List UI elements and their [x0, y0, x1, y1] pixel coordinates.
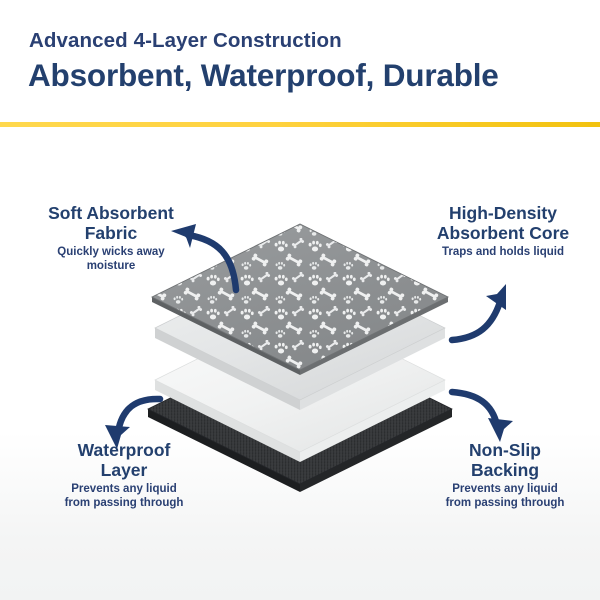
layer-absorbent-core: [155, 256, 445, 410]
header: Advanced 4-Layer Construction Absorbent,…: [0, 0, 600, 128]
callout-description: Prevents any liquid from passing through: [38, 483, 210, 510]
callout-waterproof-layer: Waterproof Layer Prevents any liquid fro…: [38, 440, 210, 510]
callout-description: Traps and holds liquid: [415, 246, 591, 260]
callout-title: Soft Absorbent Fabric: [22, 203, 200, 243]
callout-title: Waterproof Layer: [38, 440, 210, 480]
curved-arrow-up-right-icon: [452, 302, 500, 340]
callout-soft-absorbent-fabric: Soft Absorbent Fabric Quickly wicks away…: [22, 203, 200, 273]
callout-description: Quickly wicks away moisture: [22, 246, 200, 273]
curved-arrow-down-right-icon: [452, 392, 497, 425]
infographic-root: Advanced 4-Layer Construction Absorbent,…: [0, 0, 600, 600]
callout-non-slip-backing: Non-Slip Backing Prevents any liquid fro…: [420, 440, 590, 510]
callout-title: High-Density Absorbent Core: [415, 203, 591, 243]
layer-waterproof: [155, 308, 445, 462]
page-title: Absorbent, Waterproof, Durable: [28, 57, 499, 94]
callout-description: Prevents any liquid from passing through: [420, 483, 590, 510]
header-subtitle: Advanced 4-Layer Construction: [29, 29, 342, 53]
curved-arrow-down-left-icon: [118, 399, 160, 432]
callout-title: Non-Slip Backing: [420, 440, 590, 480]
header-divider: [0, 122, 600, 127]
callout-high-density-absorbent-core: High-Density Absorbent Core Traps and ho…: [415, 203, 591, 260]
